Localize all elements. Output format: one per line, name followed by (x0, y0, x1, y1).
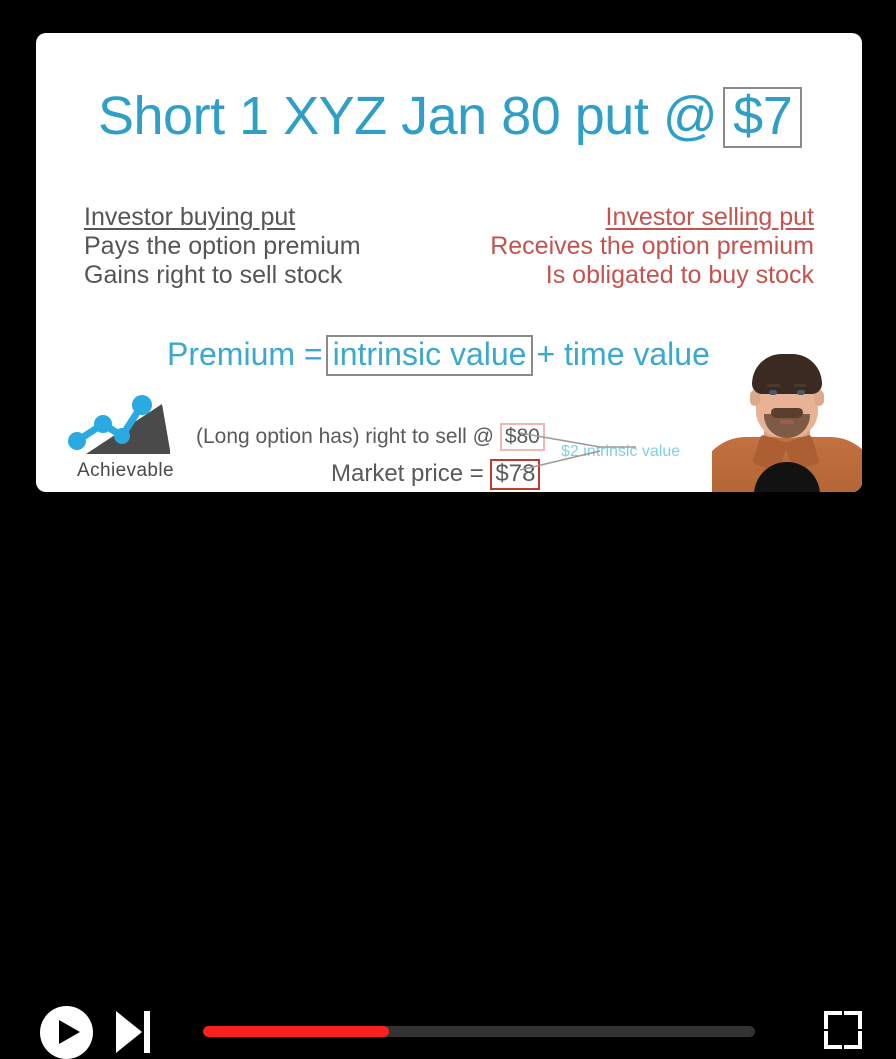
presenter-mouth (780, 420, 794, 424)
logo-wordmark: Achievable (60, 460, 191, 482)
presenter-webcam (712, 342, 862, 492)
premium-formula-lead: Premium = (167, 336, 323, 372)
example-line-market-price: Market price = $78 (331, 459, 540, 490)
slide-canvas: Short 1 XYZ Jan 80 put @$7 Investor buyi… (36, 33, 862, 492)
fullscreen-icon-corner-br (844, 1031, 862, 1049)
market-price-box: $78 (490, 459, 540, 490)
buyer-column: Investor buying put Pays the option prem… (84, 203, 361, 289)
presenter-eye-right (797, 390, 805, 395)
progress-bar[interactable] (203, 1026, 755, 1037)
fullscreen-icon-corner-bl (824, 1031, 842, 1049)
intrinsic-value-box: intrinsic value (326, 335, 534, 376)
slide-title-text: Short 1 XYZ Jan 80 put @ (98, 86, 717, 146)
slide-title: Short 1 XYZ Jan 80 put @$7 (98, 85, 802, 148)
next-button[interactable] (116, 1009, 154, 1055)
seller-heading: Investor selling put (490, 203, 814, 232)
seller-line-1: Receives the option premium (490, 232, 814, 261)
play-button[interactable] (40, 1006, 93, 1059)
video-player: Short 1 XYZ Jan 80 put @$7 Investor buyi… (0, 0, 896, 603)
presenter-eyebrow-left (767, 384, 780, 387)
premium-formula: Premium =intrinsic value+ time value (167, 335, 710, 376)
buyer-heading: Investor buying put (84, 203, 361, 232)
presenter-eyebrow-right (794, 384, 807, 387)
presenter-eye-left (769, 390, 777, 395)
title-premium-box: $7 (723, 87, 802, 148)
buyer-line-1: Pays the option premium (84, 232, 361, 261)
skip-next-bar (144, 1011, 150, 1053)
skip-next-icon (116, 1011, 142, 1053)
fullscreen-icon-corner-tr (844, 1011, 862, 1029)
intrinsic-value-callout: $2 intrinsic value (561, 443, 680, 461)
play-icon (59, 1020, 80, 1044)
example-line-right-to-sell: (Long option has) right to sell @ $80 (196, 423, 545, 451)
achievable-logo: Achievable (58, 388, 193, 483)
buyer-line-2: Gains right to sell stock (84, 261, 361, 290)
example-line-1-label: (Long option has) right to sell @ (196, 425, 494, 448)
presenter-mustache (771, 408, 803, 418)
example-line-2-label: Market price = (331, 460, 484, 487)
logo-mark (58, 388, 193, 466)
player-controls (0, 492, 896, 603)
strike-price-box: $80 (500, 423, 545, 451)
fullscreen-icon-corner-tl (824, 1011, 842, 1029)
progress-fill (203, 1026, 389, 1037)
fullscreen-button[interactable] (824, 1011, 862, 1049)
premium-formula-tail: + time value (536, 336, 709, 372)
seller-line-2: Is obligated to buy stock (490, 261, 814, 290)
seller-column: Investor selling put Receives the option… (490, 203, 814, 289)
